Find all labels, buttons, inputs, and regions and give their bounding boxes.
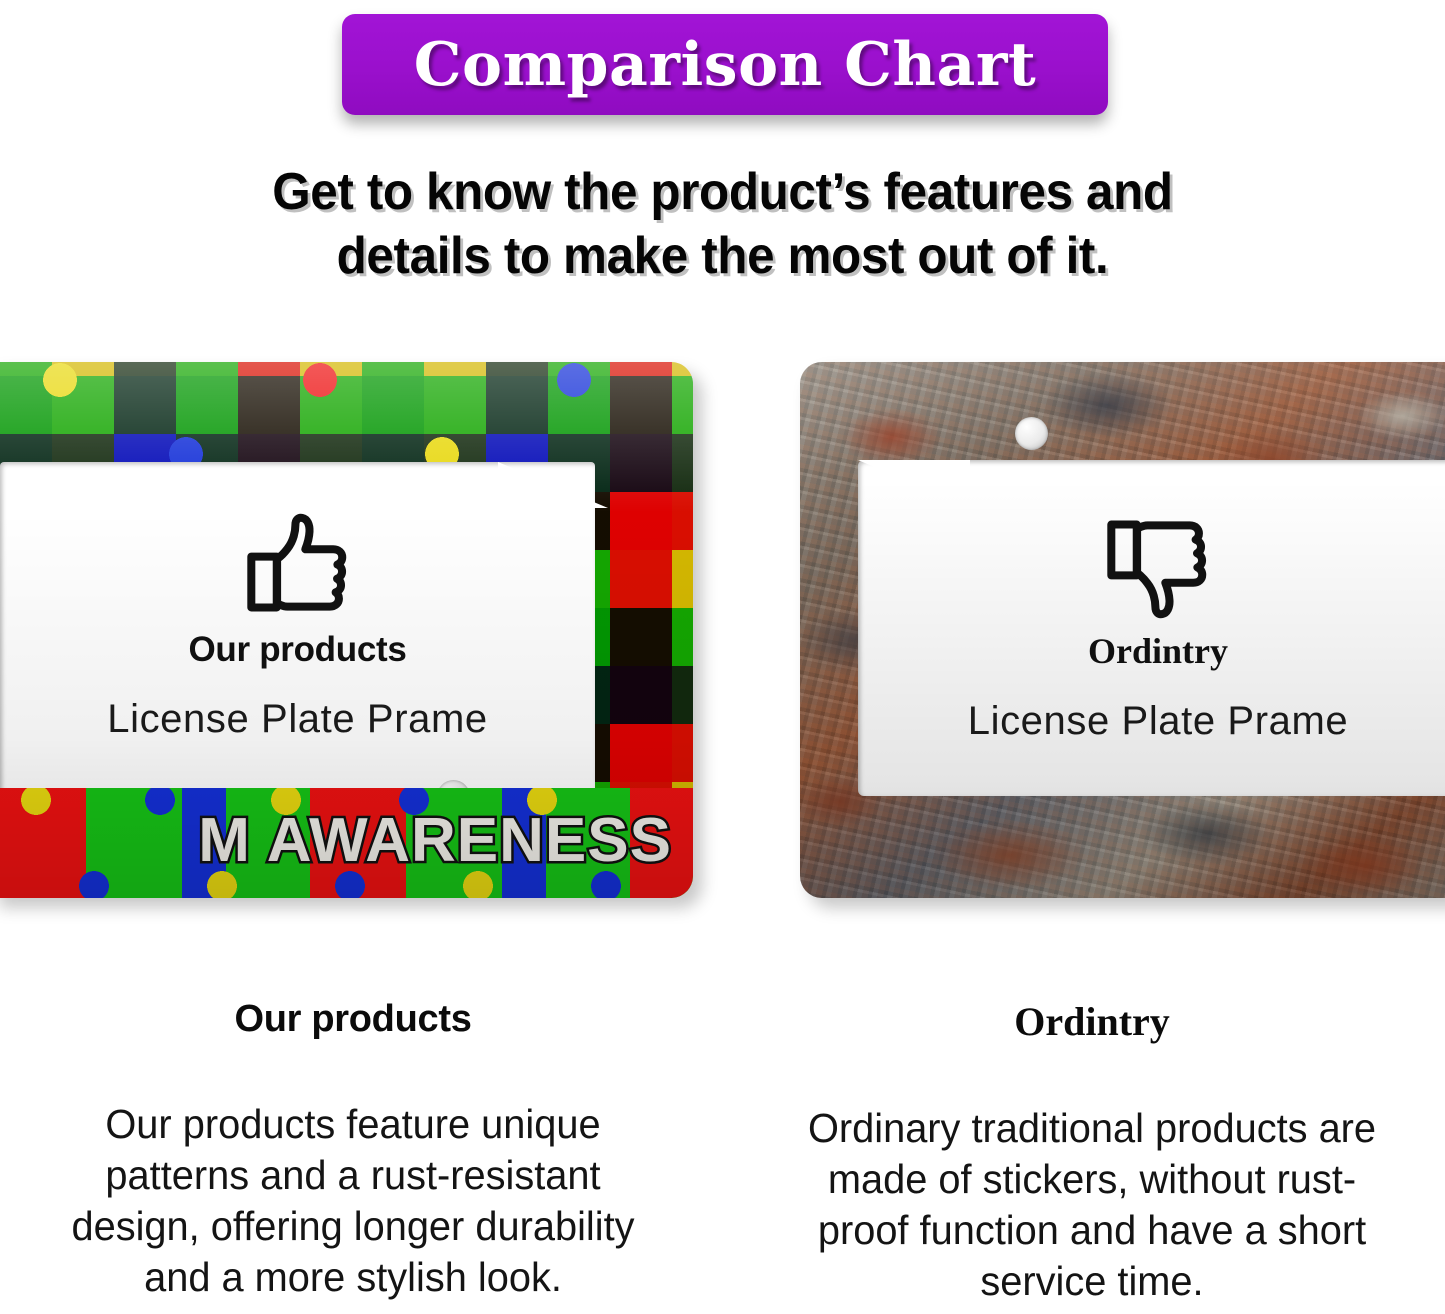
left-plate-name: Our products <box>0 630 595 670</box>
thumbs-down-icon <box>1102 512 1214 620</box>
right-plate-subtitle: License Plate Prame <box>858 699 1445 744</box>
subtitle-line-2: details to make the most out of it. <box>93 224 1352 288</box>
right-plate-name: Ordintry <box>858 630 1445 672</box>
left-plate-label-stack: Our products License Plate Prame <box>0 512 595 742</box>
left-column-description: Our products feature unique patterns and… <box>14 1099 693 1303</box>
comparison-chart-title-banner: Comparison Chart <box>342 14 1108 115</box>
right-column-description: Ordinary traditional products are made o… <box>753 1103 1432 1307</box>
thumbs-up-icon <box>242 512 354 620</box>
awareness-bar-text: M AWARENESS <box>0 810 680 872</box>
product-image-ordintry: Ordintry License Plate Prame <box>800 362 1445 898</box>
left-column-heading: Our products <box>3 998 703 1041</box>
left-description-column: Our products Our products feature unique… <box>3 998 703 1303</box>
subtitle-line-1: Get to know the product’s features and <box>93 160 1352 224</box>
right-description-column: Ordintry Ordinary traditional products a… <box>742 998 1442 1307</box>
left-plate-subtitle: License Plate Prame <box>0 697 595 742</box>
autism-awareness-bar: M AWARENESS <box>0 788 693 898</box>
product-image-our-products: Our products License Plate Prame M AWARE… <box>0 362 693 898</box>
page-subtitle: Get to know the product’s features and d… <box>93 160 1352 288</box>
page-title: Comparison Chart <box>414 30 1036 100</box>
right-mounting-hole-icon <box>1015 417 1048 450</box>
right-plate-label-stack: Ordintry License Plate Prame <box>858 512 1445 744</box>
right-column-heading: Ordintry <box>742 998 1442 1045</box>
